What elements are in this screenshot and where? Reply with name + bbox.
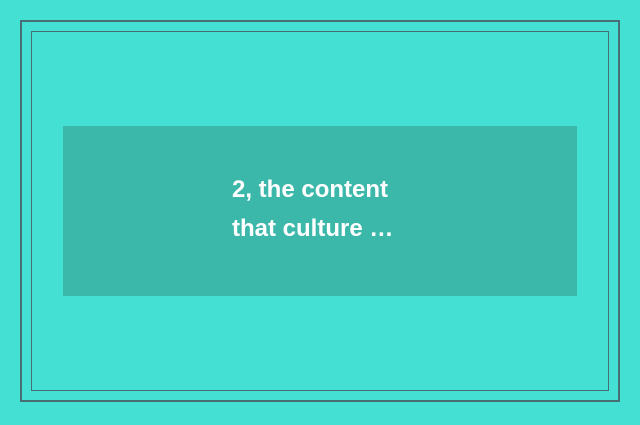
caption-line-2: that culture … — [232, 209, 562, 248]
slide-canvas: 2, the content that culture … — [0, 0, 640, 425]
caption-text-block: 2, the content that culture … — [232, 170, 562, 248]
caption-line-1: 2, the content — [232, 170, 562, 209]
content-panel: 2, the content that culture … — [63, 126, 577, 296]
